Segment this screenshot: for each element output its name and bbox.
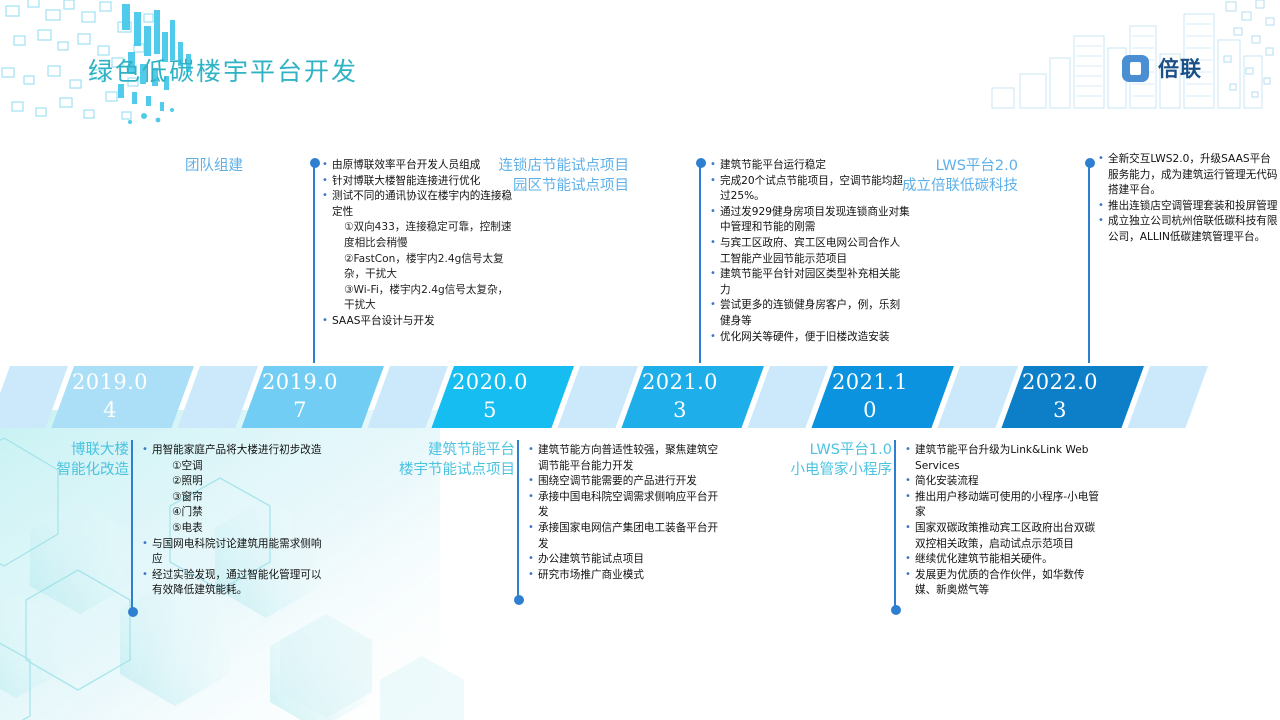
timeline-bullet-item: 与宾工区政府、宾工区电网公司合作人工智能产业园节能示范项目 [710,236,910,267]
timeline-sub-item: ⑤电表 [142,521,327,537]
timeline-sub-item: ②FastCon，楼宇内2.4g信号太复杂，干扰大 [322,252,518,283]
timeline-sub-item: ①空调 [142,459,327,475]
timeline-bullet-item: 围绕空调节能需要的产品进行开发 [528,474,723,490]
rounded-square-logo-icon [1122,55,1149,82]
timeline-bullet-item: SAAS平台设计与开发 [322,314,518,330]
timeline-sub-item: ③窗帘 [142,490,327,506]
timeline-bullet-item: 全新交互LWS2.0，升级SAAS平台服务能力，成为建筑运行管理无代码搭建平台。 [1098,152,1278,199]
timeline-node-dot[interactable] [891,605,901,615]
timeline-bullet-item: 用智能家庭产品将大楼进行初步改造 [142,443,327,459]
timeline-axis-line [699,163,701,363]
brand-name: 倍联 [1158,53,1202,83]
timeline-bullet-item: 建筑节能平台运行稳定 [710,158,910,174]
timeline-bullet-item: 完成20个试点节能项目，空调节能均超过25%。 [710,174,910,205]
timeline-column-body: 建筑节能平台运行稳定完成20个试点节能项目，空调节能均超过25%。通过发929健… [710,158,910,345]
timeline-bullet-item: 针对博联大楼智能连接进行优化 [322,174,518,190]
timeline-band [0,366,1280,428]
timeline-bullet-item: 尝试更多的连锁健身房客户，例，乐刻健身等 [710,298,910,329]
timeline-bullet-item: 成立独立公司杭州倍联低碳科技有限公司，ALLIN低碳建筑管理平台。 [1098,214,1278,245]
timeline-item-list: 建筑节能平台运行稳定完成20个试点节能项目，空调节能均超过25%。通过发929健… [710,158,910,345]
timeline-bullet-item: 研究市场推广商业模式 [528,568,723,584]
timeline-bullet-item: 推出用户移动端可使用的小程序-小电管家 [905,490,1100,521]
timeline-column-body: 建筑节能方向普适性较强，聚焦建筑空调节能平台能力开发围绕空调节能需要的产品进行开… [528,443,723,583]
timeline-column-heading: LWS平台2.0 成立倍联低碳科技 [902,156,1018,196]
timeline-bullet-item: 测试不同的通讯协议在楼宇内的连接稳定性 [322,189,518,220]
timeline-bullet-item: 建筑节能平台升级为Link&Link Web Services [905,443,1100,474]
timeline-sub-item: ④门禁 [142,505,327,521]
timeline-axis-line [517,440,519,600]
page-title: 绿色低碳楼宇平台开发 [88,52,358,88]
timeline-node-dot[interactable] [1085,158,1095,168]
timeline-column-body: 建筑节能平台升级为Link&Link Web Services简化安装流程推出用… [905,443,1100,599]
band-date-slab [428,366,576,428]
band-date-slab [48,366,196,428]
timeline-axis-line [131,440,133,612]
timeline-column-heading: 团队组建 [185,156,243,176]
timeline-bullet-item: 继续优化建筑节能相关硬件。 [905,552,1100,568]
timeline-item-list: 用智能家庭产品将大楼进行初步改造①空调②照明③窗帘④门禁⑤电表与国网电科院讨论建… [142,443,327,599]
timeline-sub-item: ③Wi-Fi，楼宇内2.4g信号太复杂，干扰大 [322,283,518,314]
timeline-item-list: 全新交互LWS2.0，升级SAAS平台服务能力，成为建筑运行管理无代码搭建平台。… [1098,152,1278,246]
timeline-column-heading: 博联大楼 智能化改造 [57,440,130,480]
timeline-bullet-item: 建筑节能方向普适性较强，聚焦建筑空调节能平台能力开发 [528,443,723,474]
timeline-axis-line [894,440,896,610]
band-date-slab [618,366,766,428]
timeline-node-dot[interactable] [696,158,706,168]
timeline-column-body: 由原博联效率平台开发人员组成针对博联大楼智能连接进行优化测试不同的通讯协议在楼宇… [322,158,518,330]
timeline-axis-line [1088,163,1090,363]
timeline-column-heading: 建筑节能平台 楼宇节能试点项目 [399,440,515,480]
timeline-axis-line [313,163,315,363]
timeline-item-list: 建筑节能方向普适性较强，聚焦建筑空调节能平台能力开发围绕空调节能需要的产品进行开… [528,443,723,583]
timeline-item-list: 建筑节能平台升级为Link&Link Web Services简化安装流程推出用… [905,443,1100,599]
timeline-node-dot[interactable] [128,607,138,617]
timeline-bullet-item: 推出连锁店空调管理套装和投屏管理 [1098,199,1278,215]
timeline-node-dot[interactable] [310,158,320,168]
timeline-bullet-item: 优化网关等硬件，便于旧楼改造安装 [710,330,910,346]
timeline-bullet-item: 通过发929健身房项目发现连锁商业对集中管理和节能的刚需 [710,205,910,236]
band-date-slab [998,366,1146,428]
slide-canvas: 绿色低碳楼宇平台开发 倍联 团队组建由原博联效率平台开发人员组成针对博联大楼智能… [0,0,1280,720]
timeline-bullet-item: 建筑节能平台针对园区类型补充相关能力 [710,267,910,298]
brand-logo: 倍联 [1122,53,1202,83]
band-date-slab [808,366,956,428]
timeline-bullet-item: 办公建筑节能试点项目 [528,552,723,568]
timeline-bullet-item: 承接国家电网信产集团电工装备平台开发 [528,521,723,552]
timeline-column-body: 用智能家庭产品将大楼进行初步改造①空调②照明③窗帘④门禁⑤电表与国网电科院讨论建… [142,443,327,599]
timeline-column-heading: LWS平台1.0 小电管家小程序 [791,440,893,480]
timeline-bullet-item: 发展更为优质的合作伙伴，如华数传媒、新奥燃气等 [905,568,1100,599]
timeline-sub-item: ①双向433，连接稳定可靠，控制速度相比会稍慢 [322,220,518,251]
timeline-bullet-item: 承接中国电科院空调需求侧响应平台开发 [528,490,723,521]
timeline-column-body: 全新交互LWS2.0，升级SAAS平台服务能力，成为建筑运行管理无代码搭建平台。… [1098,152,1278,246]
slide-header: 绿色低碳楼宇平台开发 倍联 [0,0,1280,118]
timeline-bullet-item: 与国网电科院讨论建筑用能需求侧响应 [142,537,327,568]
timeline-bullet-item: 由原博联效率平台开发人员组成 [322,158,518,174]
timeline-bullet-item: 国家双碳政策推动宾工区政府出台双碳双控相关政策，启动试点示范项目 [905,521,1100,552]
band-date-slab [238,366,386,428]
timeline-column-heading: 连锁店节能试点项目 园区节能试点项目 [499,156,630,196]
timeline-bullet-item: 经过实验发现，通过智能化管理可以有效降低建筑能耗。 [142,568,327,599]
timeline-node-dot[interactable] [514,595,524,605]
timeline-sub-item: ②照明 [142,474,327,490]
timeline-item-list: 由原博联效率平台开发人员组成针对博联大楼智能连接进行优化测试不同的通讯协议在楼宇… [322,158,518,330]
timeline-bullet-item: 简化安装流程 [905,474,1100,490]
